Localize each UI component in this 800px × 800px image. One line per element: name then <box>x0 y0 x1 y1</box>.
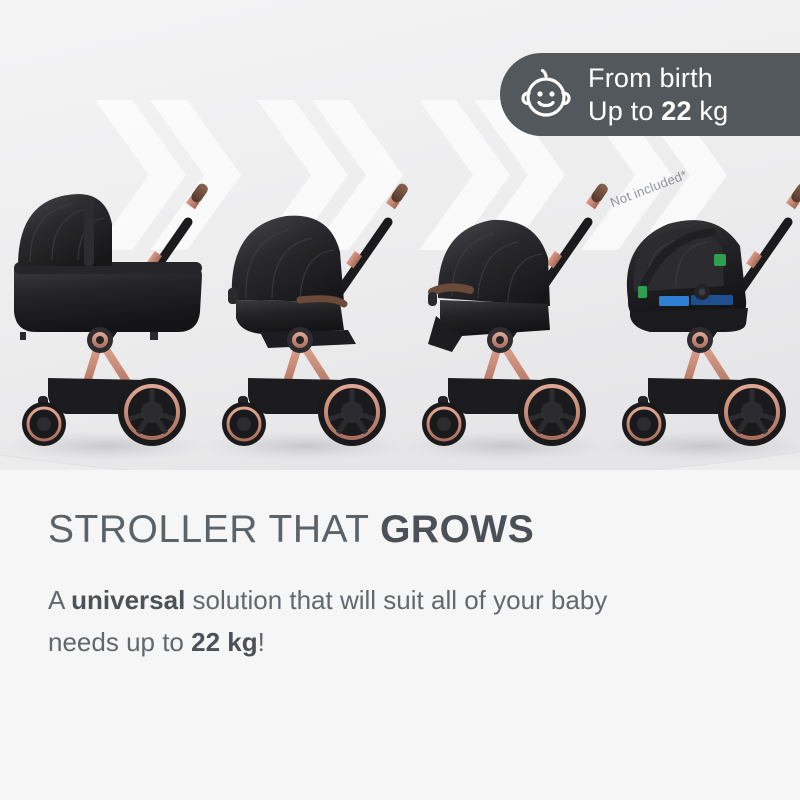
age-weight-badge: From birth Up to 22 kg <box>500 53 800 136</box>
marketing-copy-area: STROLLER THAT GROWS A universal solution… <box>0 470 800 800</box>
body-bold-universal: universal <box>71 585 185 615</box>
badge-line2-suffix: kg <box>692 96 729 126</box>
badge-text: From birth Up to 22 kg <box>588 62 728 128</box>
headline-bold-part: GROWS <box>380 508 534 551</box>
baby-face-icon <box>518 67 574 123</box>
badge-line-1: From birth <box>588 62 728 95</box>
body-bold-weight: 22 kg <box>191 627 258 657</box>
body-part-3: ! <box>258 627 265 657</box>
badge-line2-prefix: Up to <box>588 96 661 126</box>
product-photo-area: Not included* From birth Up to 22 kg <box>0 0 800 520</box>
promo-image: Not included* From birth Up to 22 kg <box>0 0 800 800</box>
headline-light-part: STROLLER THAT <box>48 508 380 551</box>
body-copy: A universal solution that will suit all … <box>48 579 628 663</box>
badge-line-2: Up to 22 kg <box>588 95 728 128</box>
body-part-1: A <box>48 585 71 615</box>
badge-weight-value: 22 <box>661 96 691 126</box>
page-title: STROLLER THAT GROWS <box>48 508 534 552</box>
